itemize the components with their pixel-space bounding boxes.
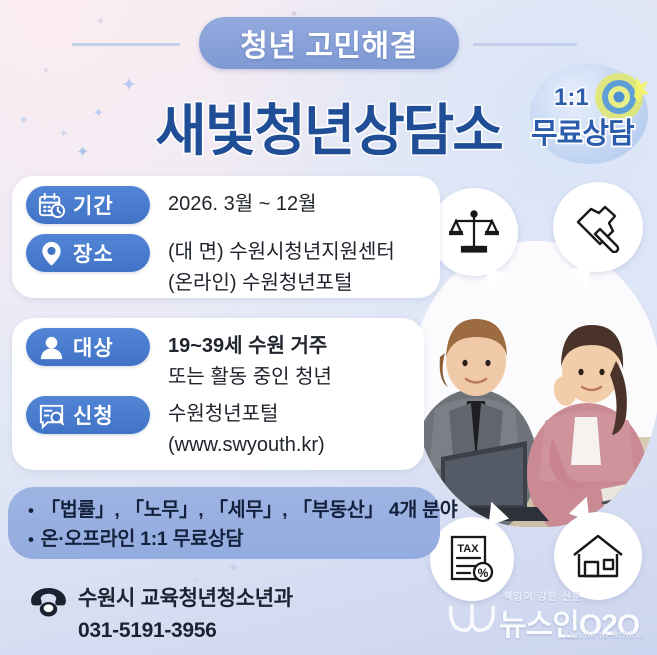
svg-text:%: % [478,566,489,580]
svg-text:TAX: TAX [457,543,479,555]
header-rule-right [473,43,577,46]
info-row-target: 대상 19~39세 수원 거주 또는 활동 중인 청년 [26,328,332,393]
person-icon [37,333,66,362]
telephone-icon [30,587,67,617]
period-value: 2026. 3월 ~ 12월 [168,189,317,220]
topic-bubble-home [554,512,642,600]
header-badge: 청년 고민해결 [199,17,459,69]
target-value-age: 19~39세 수원 거주 [168,331,332,362]
tax-document-icon: TAX % [449,534,495,584]
list-item: 온·오프라인 1:1 무료상담 [28,525,440,554]
list-item: 「법률」, 「노무」, 「세무」, 「부동산」 4개 분야 [28,496,440,525]
scales-of-justice-icon [449,207,499,257]
stamp-ratio: 1:1 [554,84,589,112]
contact-footer: 수원시 교육청년청소년과 031-5191-3956 [30,583,293,647]
apply-pill: 신청 [26,396,150,434]
sparkle-icon: ✦ [228,561,239,574]
sparkle-icon: ✦ [96,17,105,28]
info-row-apply: 신청 수원청년포털 (www.swyouth.kr) [26,396,325,461]
target-label: 대상 [73,332,114,362]
highlights-list: 「법률」, 「노무」, 「세무」, 「부동산」 4개 분야 온·오프라인 1:1… [8,487,440,554]
place-value-online: (온라인) 수원청년포털 [168,268,395,299]
watermark: 책임이 강한 신문 뉴스인O2O Online to Offline [447,588,652,648]
place-label: 장소 [73,238,114,268]
counseling-illustration [411,241,657,527]
period-values: 2026. 3월 ~ 12월 [168,186,317,220]
form-search-icon [37,401,66,430]
contact-text: 수원시 교육청년청소년과 031-5191-3956 [78,583,293,647]
header-rule-left [72,43,180,46]
stamp-label: 무료상담 [531,110,634,152]
schedule-card: 기간 2026. 3월 ~ 12월 장소 (대 면) 수원시청년지원센터 (온라… [12,176,440,298]
place-values: (대 면) 수원시청년지원센터 (온라인) 수원청년포털 [168,234,395,299]
period-pill: 기간 [26,186,150,224]
free-consult-stamp: 1:1 무료상담 [524,62,652,166]
watermark-subtitle: Online to Offline [565,630,644,640]
topic-bubble-law [430,188,518,276]
place-value-offline: (대 면) 수원시청년지원센터 [168,237,395,268]
target-values: 19~39세 수원 거주 또는 활동 중인 청년 [168,328,332,393]
sparkle-icon: ✦ [42,67,50,77]
apply-value-url: (www.swyouth.kr) [168,430,325,461]
place-pill: 장소 [26,234,150,272]
hammer-icon [572,201,624,253]
eligibility-card: 대상 19~39세 수원 거주 또는 활동 중인 청년 신청 [12,318,424,470]
target-value-activity: 또는 활동 중인 청년 [168,362,332,393]
info-row-period: 기간 2026. 3월 ~ 12월 [26,186,317,224]
calendar-clock-icon [37,191,66,220]
newsin-logo-icon [447,600,497,634]
contact-department: 수원시 교육청년청소년과 [78,583,293,615]
topic-bubble-labor [553,182,643,272]
poster: ✦ ✦ ✦ ✦ ✦ ✦ ✦ ✦ ✦ ✦ 청년 고민해결 새빛청년상담소 1:1 … [0,0,657,655]
target-pill: 대상 [26,328,150,366]
contact-phone: 031-5191-3956 [78,615,293,647]
house-icon [572,533,624,579]
header-badge-label: 청년 고민해결 [240,21,417,65]
apply-values: 수원청년포털 (www.swyouth.kr) [168,396,325,461]
apply-label: 신청 [73,400,114,430]
apply-value-portal: 수원청년포털 [168,399,325,430]
info-row-place: 장소 (대 면) 수원시청년지원센터 (온라인) 수원청년포털 [26,234,395,299]
highlights-card: 「법률」, 「노무」, 「세무」, 「부동산」 4개 분야 온·오프라인 1:1… [8,487,440,559]
location-pin-icon [37,239,66,268]
period-label: 기간 [73,190,114,220]
